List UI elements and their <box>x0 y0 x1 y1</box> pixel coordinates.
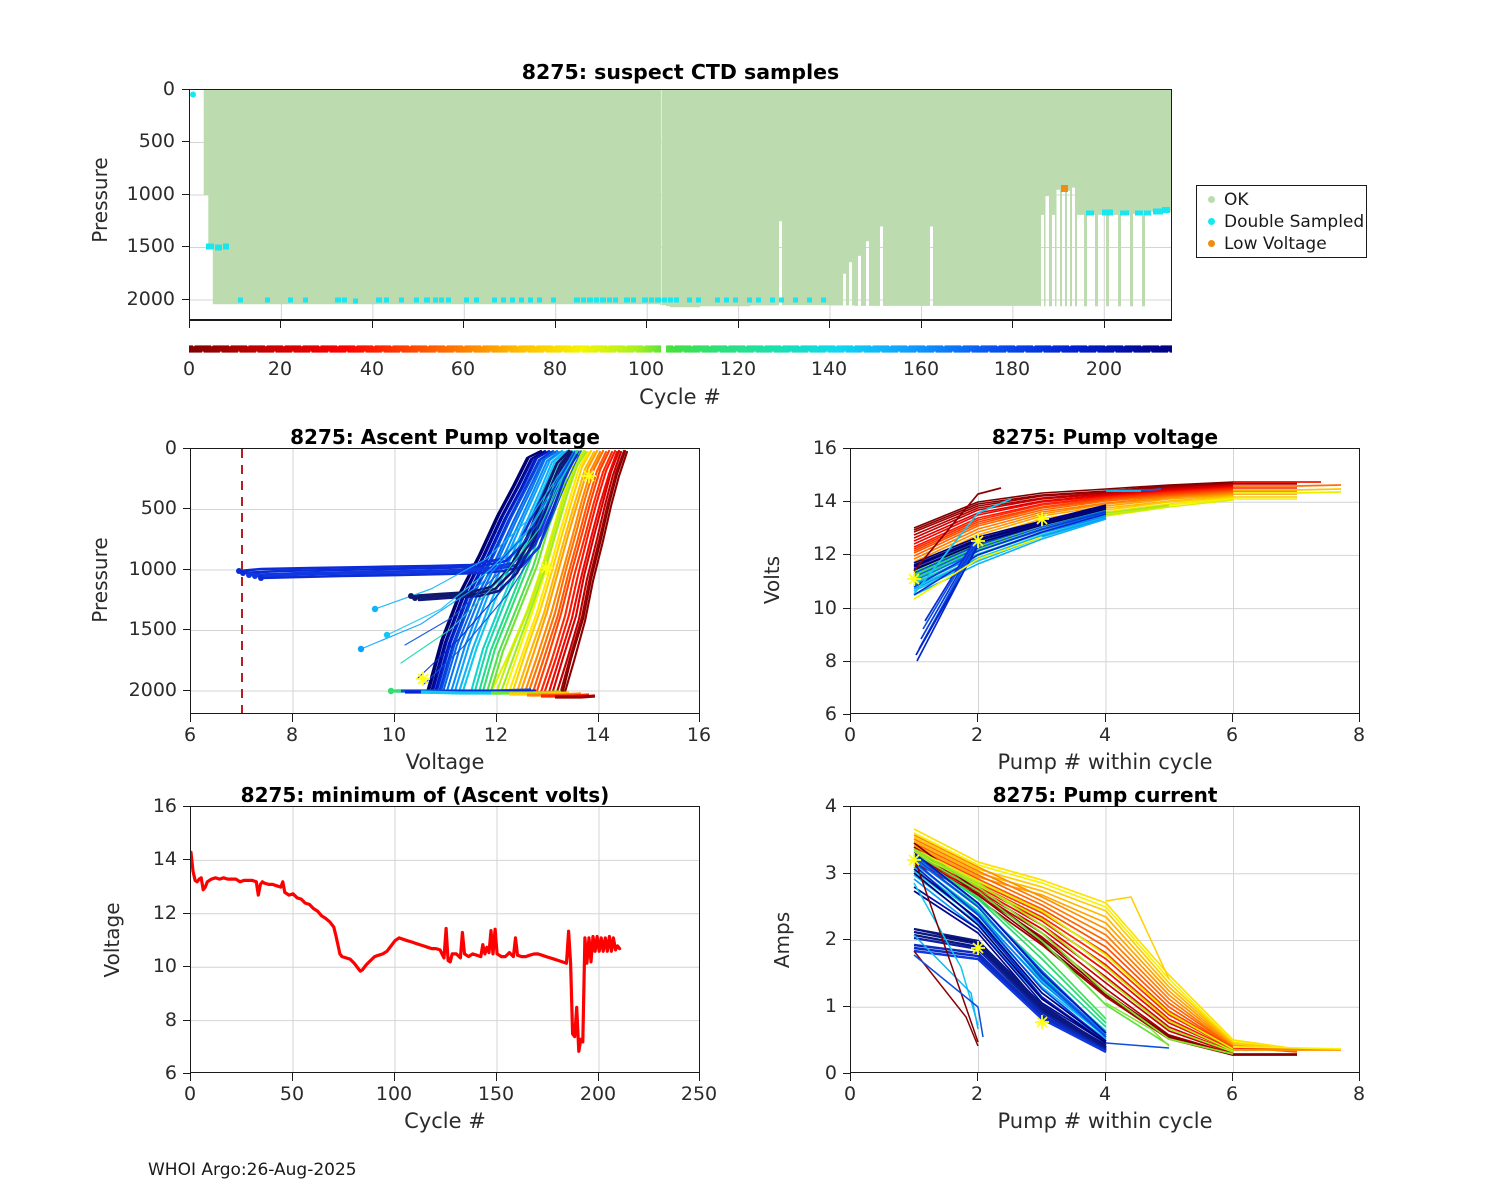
xtick-label-mav-0: 0 <box>184 1083 196 1105</box>
chart-title-pump-current: 8275: Pump current <box>850 783 1360 807</box>
ytick-label-pc-3: 3 <box>800 862 837 884</box>
ytick-label-pv-6: 6 <box>790 703 837 725</box>
ytick-label-ascent-500: 500 <box>120 497 177 519</box>
plot-area-pump-voltage <box>850 448 1360 714</box>
xtick-label-ascent-6: 6 <box>184 724 196 746</box>
ytick-label-pc-2: 2 <box>800 928 837 950</box>
xtick-label-pc-0: 0 <box>844 1083 856 1105</box>
legend-item-ok[interactable]: OK <box>1208 189 1249 210</box>
min-ascent-volts-trace <box>191 852 620 1051</box>
legend-swatch-ok <box>1208 196 1215 203</box>
xtick-label-pc-8: 8 <box>1353 1083 1365 1105</box>
xtick-label-mav-100: 100 <box>376 1083 412 1105</box>
plot-area-suspect-ctd <box>189 89 1172 320</box>
axis-label-pressure-top: Pressure <box>88 157 112 242</box>
xtick-label-40: 40 <box>360 358 384 380</box>
chart-title-ascent-pump-voltage: 8275: Ascent Pump voltage <box>190 425 700 449</box>
axis-label-cycle-top: Cycle # <box>639 385 721 409</box>
legend-label-low-voltage: Low Voltage <box>1224 234 1327 254</box>
footer-attribution: WHOI Argo:26-Aug-2025 <box>148 1160 357 1180</box>
ytick-label-mav-6: 6 <box>130 1062 177 1084</box>
ytick-label-pv-16: 16 <box>790 437 837 459</box>
panel-min-ascent-volts: 8275: minimum of (Ascent volts) 16 14 12… <box>0 770 750 1140</box>
legend-item-low-voltage[interactable]: Low Voltage <box>1208 233 1327 254</box>
ytick-label-pv-8: 8 <box>790 650 837 672</box>
plot-area-min-ascent-volts <box>190 806 700 1073</box>
ytick-label-pv-14: 14 <box>790 490 837 512</box>
ytick-label-ascent-0: 0 <box>120 437 177 459</box>
axis-label-cycle-min-ascent: Cycle # <box>404 1109 486 1133</box>
ytick-label-0: 0 <box>120 78 175 100</box>
low-voltage-markers-suspect-ctd <box>1061 185 1068 192</box>
ok-envelope-suspect-ctd <box>190 90 1172 307</box>
xtick-label-ascent-8: 8 <box>286 724 298 746</box>
axis-label-amps-pump-current: Amps <box>770 912 794 968</box>
legend-item-double-sampled[interactable]: Double Sampled <box>1208 211 1364 232</box>
axis-label-volts-pump-voltage: Volts <box>760 556 784 604</box>
xtick-label-200: 200 <box>1086 358 1122 380</box>
ytick-label-1000: 1000 <box>120 183 175 205</box>
suspect-ctd-canvas <box>190 90 1172 320</box>
xtick-label-mav-50: 50 <box>280 1083 304 1105</box>
xtick-label-ascent-12: 12 <box>484 724 508 746</box>
xtick-label-ascent-14: 14 <box>586 724 610 746</box>
ytick-label-pv-10: 10 <box>790 597 837 619</box>
ytick-label-pc-1: 1 <box>800 995 837 1017</box>
xtick-label-mav-150: 150 <box>478 1083 514 1105</box>
ytick-label-ascent-1500: 1500 <box>120 618 177 640</box>
xtick-label-pv-4: 4 <box>1099 724 1111 746</box>
ytick-label-pv-12: 12 <box>790 543 837 565</box>
panel-ascent-pump-voltage: 8275: Ascent Pump voltage <box>0 410 750 770</box>
ytick-label-mav-14: 14 <box>130 848 177 870</box>
chart-title-pump-voltage: 8275: Pump voltage <box>850 425 1360 449</box>
plot-area-ascent-pump-voltage <box>190 448 700 714</box>
pump-voltage-canvas <box>851 449 1360 714</box>
panel-pump-current: 8275: Pump current <box>750 770 1500 1140</box>
xtick-label-mav-250: 250 <box>681 1083 717 1105</box>
ytick-label-500: 500 <box>120 130 175 152</box>
axis-label-pressure-ascent: Pressure <box>88 537 112 622</box>
ascent-endpoint-dots <box>236 568 418 694</box>
legend-label-double-sampled: Double Sampled <box>1224 212 1364 232</box>
ytick-label-mav-10: 10 <box>130 955 177 977</box>
pump-current-canvas <box>851 807 1360 1073</box>
ytick-label-pc-0: 0 <box>800 1062 837 1084</box>
legend-label-ok: OK <box>1224 190 1249 210</box>
xtick-label-pv-6: 6 <box>1226 724 1238 746</box>
xtick-label-80: 80 <box>543 358 567 380</box>
ytick-label-pc-4: 4 <box>800 795 837 817</box>
ytick-label-ascent-2000: 2000 <box>120 679 177 701</box>
xtick-label-120: 120 <box>720 358 756 380</box>
xtick-label-ascent-10: 10 <box>382 724 406 746</box>
ytick-label-mav-8: 8 <box>130 1009 177 1031</box>
legend-swatch-low-voltage <box>1208 240 1215 247</box>
ascent-profiles-jet <box>239 451 627 692</box>
xtick-label-140: 140 <box>811 358 847 380</box>
xtick-label-pc-2: 2 <box>971 1083 983 1105</box>
plot-area-pump-current <box>850 806 1360 1073</box>
ascent-pump-voltage-canvas <box>191 449 700 714</box>
panel-pump-voltage: 8275: Pump voltage <box>750 410 1500 770</box>
axis-label-pumpnum-pump-current: Pump # within cycle <box>998 1109 1213 1133</box>
xtick-label-160: 160 <box>903 358 939 380</box>
ytick-label-mav-12: 12 <box>130 902 177 924</box>
xtick-label-180: 180 <box>994 358 1030 380</box>
xaxis-line-suspect-ctd <box>189 320 1172 321</box>
chart-title-suspect-ctd: 8275: suspect CTD samples <box>189 60 1172 84</box>
xtick-label-pc-6: 6 <box>1226 1083 1238 1105</box>
ytick-label-1500: 1500 <box>120 235 175 257</box>
xtick-label-100: 100 <box>628 358 664 380</box>
xtick-label-ascent-16: 16 <box>687 724 711 746</box>
ytick-label-mav-16: 16 <box>130 795 177 817</box>
ytick-label-2000: 2000 <box>120 288 175 310</box>
xtick-label-0: 0 <box>183 358 195 380</box>
xtick-label-pv-0: 0 <box>844 724 856 746</box>
cycle-colorbar-strip <box>189 344 1172 354</box>
axis-label-voltage-min-ascent: Voltage <box>100 902 124 977</box>
panel-suspect-ctd-samples: 8275: suspect CTD samples <box>0 0 1500 410</box>
xtick-label-pc-4: 4 <box>1099 1083 1111 1105</box>
xtick-label-20: 20 <box>268 358 292 380</box>
xtick-label-60: 60 <box>451 358 475 380</box>
xtick-label-pv-2: 2 <box>971 724 983 746</box>
legend-swatch-double-sampled <box>1208 218 1215 225</box>
ytick-label-ascent-1000: 1000 <box>120 558 177 580</box>
xtick-label-pv-8: 8 <box>1353 724 1365 746</box>
min-ascent-volts-canvas <box>191 807 700 1073</box>
chart-title-min-ascent-volts: 8275: minimum of (Ascent volts) <box>145 783 705 807</box>
xtick-label-mav-200: 200 <box>580 1083 616 1105</box>
